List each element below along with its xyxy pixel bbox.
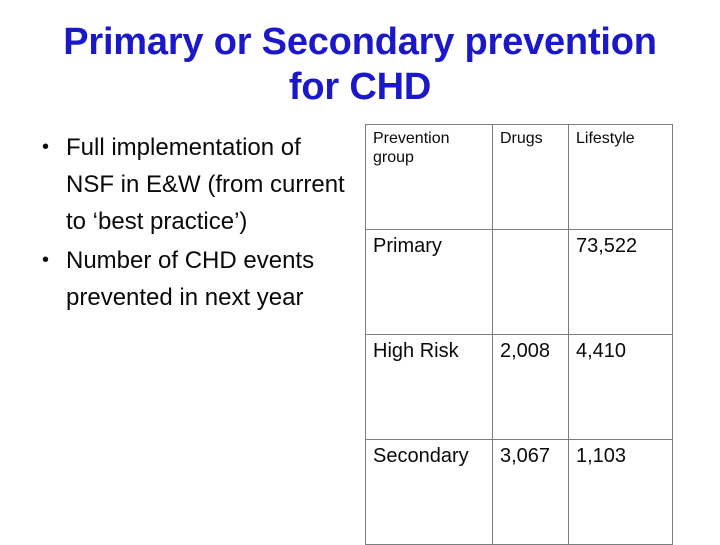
page-title: Primary or Secondary prevention for CHD (30, 20, 690, 110)
list-item-label: Full implementation of NSF in E&W (from … (66, 134, 345, 235)
cell-lifestyle-primary: 73,522 (569, 230, 673, 335)
prevention-data-table: Prevention group Drugs Lifestyle Primary… (365, 124, 673, 545)
bullet-list: • Full implementation of NSF in E&W (fro… (30, 129, 350, 318)
slide-canvas: Primary or Secondary prevention for CHD … (0, 0, 720, 540)
cell-group-secondary: Secondary (366, 440, 493, 545)
column-header-lifestyle: Lifestyle (569, 125, 673, 230)
bullet-icon: • (42, 129, 49, 166)
table-row: High Risk 2,008 4,410 (366, 335, 673, 440)
cell-drugs-secondary: 3,067 (493, 440, 569, 545)
cell-group-primary: Primary (366, 230, 493, 335)
cell-drugs-high-risk: 2,008 (493, 335, 569, 440)
column-header-prevention-group-line-1: Prevention (373, 129, 492, 148)
column-header-drugs: Drugs (493, 125, 569, 230)
bullet-icon: • (42, 242, 49, 279)
column-header-prevention-group: Prevention group (366, 125, 493, 230)
cell-drugs-primary (493, 230, 569, 335)
table-row: Secondary 3,067 1,103 (366, 440, 673, 545)
table-header-row: Prevention group Drugs Lifestyle (366, 125, 673, 230)
cell-group-high-risk: High Risk (366, 335, 493, 440)
cell-lifestyle-secondary: 1,103 (569, 440, 673, 545)
page-title-line-1: Primary or Secondary prevention (30, 20, 690, 65)
table-row: Primary 73,522 (366, 230, 673, 335)
page-title-line-2: for CHD (30, 65, 690, 110)
cell-lifestyle-high-risk: 4,410 (569, 335, 673, 440)
list-item: • Number of CHD events prevented in next… (30, 242, 350, 316)
list-item: • Full implementation of NSF in E&W (fro… (30, 129, 350, 240)
list-item-label: Number of CHD events prevented in next y… (66, 247, 314, 311)
column-header-prevention-group-line-2: group (373, 148, 492, 167)
